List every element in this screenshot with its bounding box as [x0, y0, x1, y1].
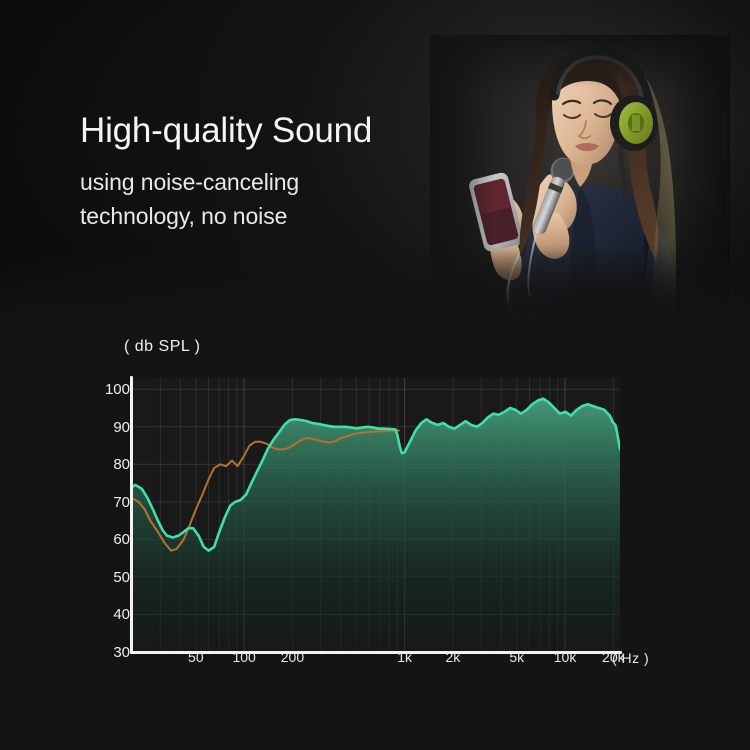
y-tick-label: 80	[96, 457, 130, 472]
chart-plot-area	[132, 378, 620, 652]
x-axis-unit-label: ( Hz )	[612, 650, 649, 666]
product-banner: High-quality Sound using noise-canceling…	[0, 0, 750, 750]
y-tick-label: 100	[96, 382, 130, 397]
y-axis-unit-label: ( db SPL )	[124, 338, 200, 356]
x-tick-label: 2k	[445, 650, 460, 664]
x-tick-label: 1k	[397, 650, 412, 664]
chart-svg	[132, 378, 620, 652]
y-tick-label: 30	[96, 645, 130, 660]
x-tick-label: 100	[232, 650, 255, 664]
x-tick-label: 5k	[509, 650, 524, 664]
y-axis-line	[130, 376, 133, 654]
y-tick-label: 90	[96, 420, 130, 435]
y-axis-tick-labels: 10090807060504030	[96, 0, 130, 750]
x-tick-label: 10k	[554, 650, 577, 664]
x-tick-label: 200	[281, 650, 304, 664]
x-tick-label: 50	[188, 650, 204, 664]
y-tick-label: 60	[96, 532, 130, 547]
y-tick-label: 40	[96, 607, 130, 622]
y-tick-label: 50	[96, 570, 130, 585]
y-tick-label: 70	[96, 495, 130, 510]
